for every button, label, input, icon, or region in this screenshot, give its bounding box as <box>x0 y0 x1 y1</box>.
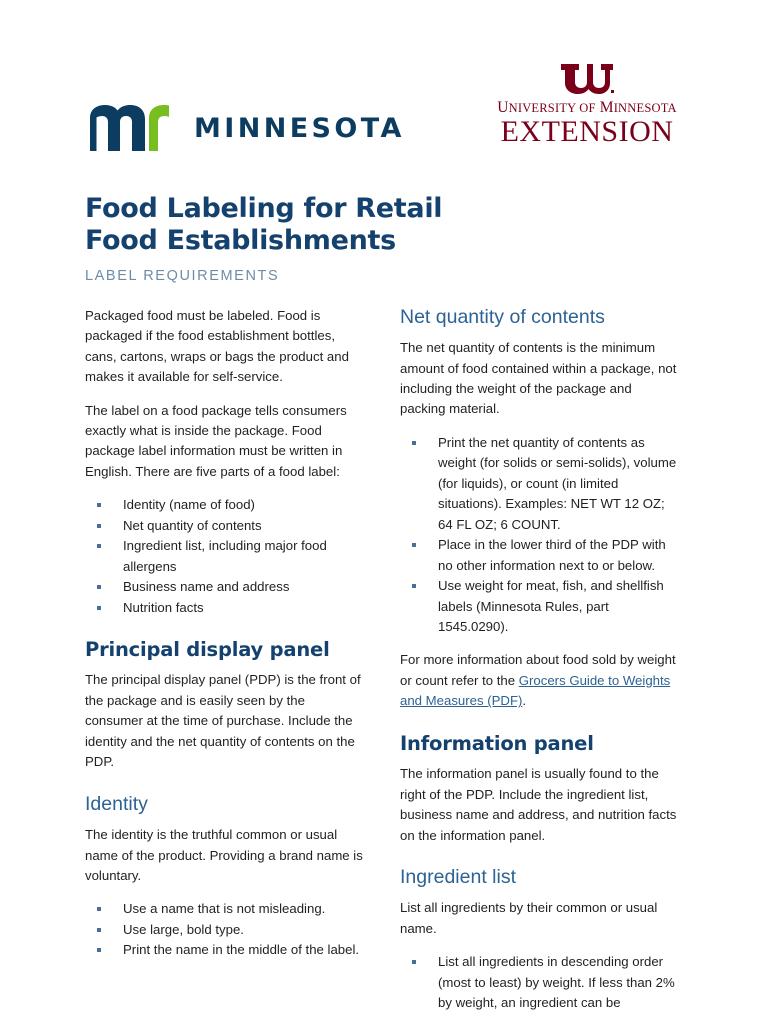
list-item: Nutrition facts <box>85 598 363 618</box>
ingredient-paragraph: List all ingredients by their common or … <box>400 898 678 939</box>
umn-extension-line2: EXTENSION <box>487 117 687 147</box>
infopanel-paragraph: The information panel is usually found t… <box>400 764 678 846</box>
list-item: Business name and address <box>85 577 363 597</box>
pdp-paragraph: The principal display panel (PDP) is the… <box>85 670 363 772</box>
ingredient-bullets-list: List all ingredients in descending order… <box>400 952 678 1013</box>
identity-paragraph: The identity is the truthful common or u… <box>85 825 363 886</box>
content-columns: Packaged food must be labeled. Food is p… <box>0 306 770 1027</box>
document-page: MINNESOTA UNIVERSITY OF MINNESOTA EXTENS… <box>0 0 770 1024</box>
right-column: Net quantity of contents The net quantit… <box>400 306 678 1027</box>
section-heading-ingredient-list: Ingredient list <box>400 866 678 889</box>
identity-bullets-list: Use a name that is not misleading. Use l… <box>85 899 363 960</box>
umn-block-m-icon <box>559 62 615 96</box>
section-heading-information-panel: Information panel <box>400 732 678 755</box>
mn-logo-mark <box>88 104 170 152</box>
minnesota-wordmark: MINNESOTA <box>194 115 405 142</box>
list-item: Identity (name of food) <box>85 495 363 515</box>
list-item: Use large, bold type. <box>85 920 363 940</box>
netqty-paragraph: The net quantity of contents is the mini… <box>400 338 678 420</box>
document-header: MINNESOTA UNIVERSITY OF MINNESOTA EXTENS… <box>0 0 770 125</box>
title-block: Food Labeling for Retail Food Establishm… <box>0 193 770 284</box>
netqty-bullets-list: Print the net quantity of contents as we… <box>400 433 678 638</box>
intro-paragraph-2: The label on a food package tells consum… <box>85 401 363 483</box>
list-item: Ingredient list, including major food al… <box>85 536 363 577</box>
page-title: Food Labeling for Retail Food Establishm… <box>85 193 515 257</box>
list-item: Print the name in the middle of the labe… <box>85 940 363 960</box>
more-info-paragraph: For more information about food sold by … <box>400 650 678 711</box>
list-item: Use a name that is not misleading. <box>85 899 363 919</box>
list-item: Print the net quantity of contents as we… <box>400 433 678 535</box>
section-heading-net-quantity-of-contents: Net quantity of contents <box>400 306 678 329</box>
more-info-suffix: . <box>522 693 526 708</box>
list-item: Place in the lower third of the PDP with… <box>400 535 678 576</box>
list-item: Use weight for meat, fish, and shellfish… <box>400 576 678 637</box>
section-heading-principal-display-panel: Principal display panel <box>85 638 363 661</box>
left-column: Packaged food must be labeled. Food is p… <box>85 306 363 974</box>
list-item: List all ingredients in descending order… <box>400 952 678 1013</box>
umn-extension-logo: UNIVERSITY OF MINNESOTA EXTENSION <box>487 62 687 147</box>
minnesota-state-logo: MINNESOTA <box>88 104 405 152</box>
umn-extension-line1: UNIVERSITY OF MINNESOTA <box>487 100 687 116</box>
page-subtitle: Label requirements <box>85 268 685 284</box>
label-parts-list: Identity (name of food) Net quantity of … <box>85 495 363 618</box>
section-heading-identity: Identity <box>85 793 363 816</box>
intro-paragraph-1: Packaged food must be labeled. Food is p… <box>85 306 363 388</box>
list-item: Net quantity of contents <box>85 516 363 536</box>
